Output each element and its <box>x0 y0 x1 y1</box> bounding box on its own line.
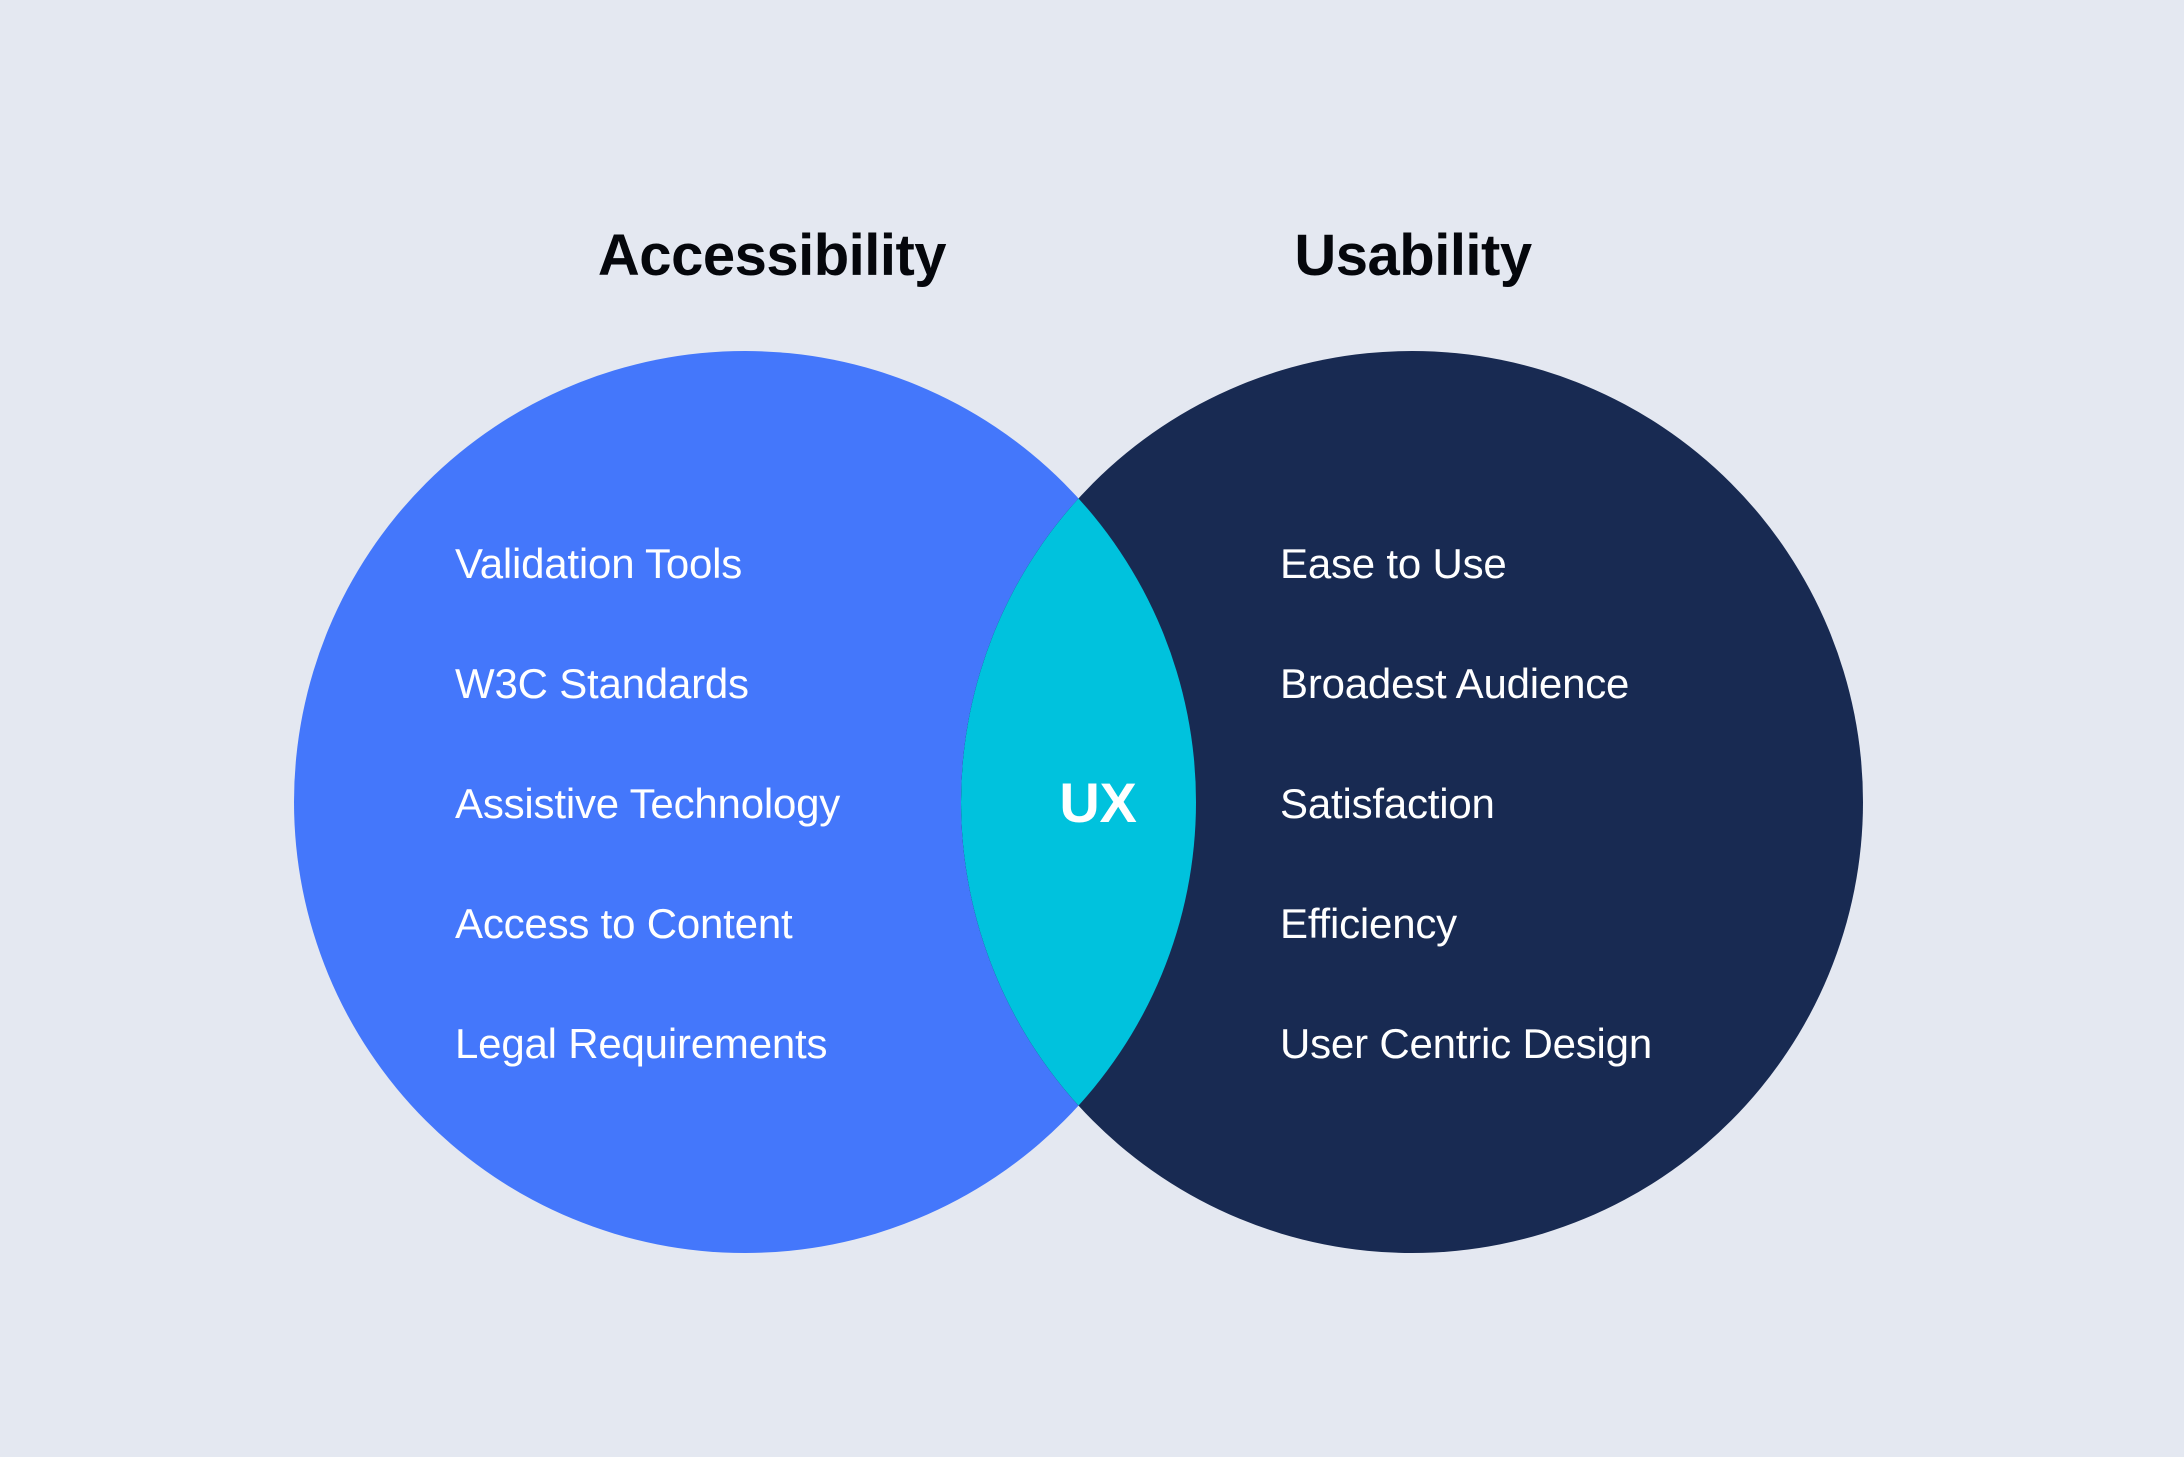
usability-item-3: Efficiency <box>1280 900 1457 947</box>
venn-diagram-canvas: Accessibility Usability Validation Tools… <box>0 0 2184 1457</box>
accessibility-item-0: Validation Tools <box>455 540 742 587</box>
accessibility-title: Accessibility <box>598 223 946 288</box>
venn-diagram-page: Accessibility Usability Validation Tools… <box>0 0 2184 1457</box>
usability-item-2: Satisfaction <box>1280 780 1495 827</box>
accessibility-item-4: Legal Requirements <box>455 1020 827 1067</box>
usability-title: Usability <box>1294 223 1531 288</box>
usability-item-1: Broadest Audience <box>1280 660 1629 707</box>
accessibility-item-2: Assistive Technology <box>455 780 840 827</box>
accessibility-item-1: W3C Standards <box>455 660 749 707</box>
usability-item-0: Ease to Use <box>1280 540 1507 587</box>
usability-item-4: User Centric Design <box>1280 1020 1652 1067</box>
accessibility-item-3: Access to Content <box>455 900 793 947</box>
ux-label: UX <box>1059 771 1136 834</box>
